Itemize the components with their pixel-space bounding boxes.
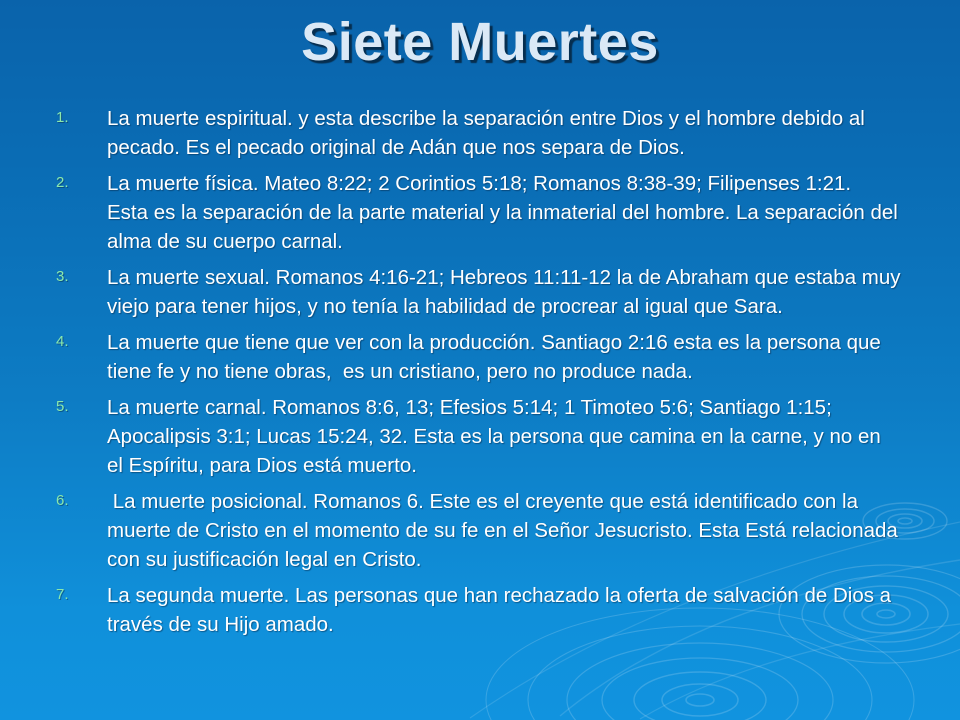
slide-body: 1. La muerte espiritual. y esta describe… [0, 104, 960, 646]
list-item-number: 3. [56, 268, 86, 285]
list-item: 4. La muerte que tiene que ver con la pr… [0, 328, 960, 386]
list-item-number: 6. [56, 492, 86, 509]
list-item-text: La muerte sexual. Romanos 4:16-21; Hebre… [107, 263, 902, 321]
list-item-text: La segunda muerte. Las personas que han … [107, 581, 902, 639]
presentation-slide: Siete Muertes 1. La muerte espiritual. y… [0, 0, 960, 720]
list-item-text: La muerte carnal. Romanos 8:6, 13; Efesi… [107, 393, 902, 480]
list-item-number: 2. [56, 174, 86, 191]
list-item: 1. La muerte espiritual. y esta describe… [0, 104, 960, 162]
list-item: 7. La segunda muerte. Las personas que h… [0, 581, 960, 639]
list-item-text: La muerte física. Mateo 8:22; 2 Corintio… [107, 169, 902, 256]
numbered-list: 1. La muerte espiritual. y esta describe… [0, 104, 960, 639]
list-item: 3. La muerte sexual. Romanos 4:16-21; He… [0, 263, 960, 321]
list-item: 2. La muerte física. Mateo 8:22; 2 Corin… [0, 169, 960, 256]
title-container: Siete Muertes [0, 14, 960, 71]
list-item-number: 4. [56, 333, 86, 350]
list-item-text: La muerte posicional. Romanos 6. Este es… [107, 487, 902, 574]
list-item: 5. La muerte carnal. Romanos 8:6, 13; Ef… [0, 393, 960, 480]
list-item-number: 5. [56, 398, 86, 415]
page-title: Siete Muertes [301, 14, 659, 71]
list-item-number: 1. [56, 109, 86, 126]
list-item-text: La muerte espiritual. y esta describe la… [107, 104, 902, 162]
list-item-number: 7. [56, 586, 86, 603]
list-item-text: La muerte que tiene que ver con la produ… [107, 328, 902, 386]
list-item: 6. La muerte posicional. Romanos 6. Este… [0, 487, 960, 574]
